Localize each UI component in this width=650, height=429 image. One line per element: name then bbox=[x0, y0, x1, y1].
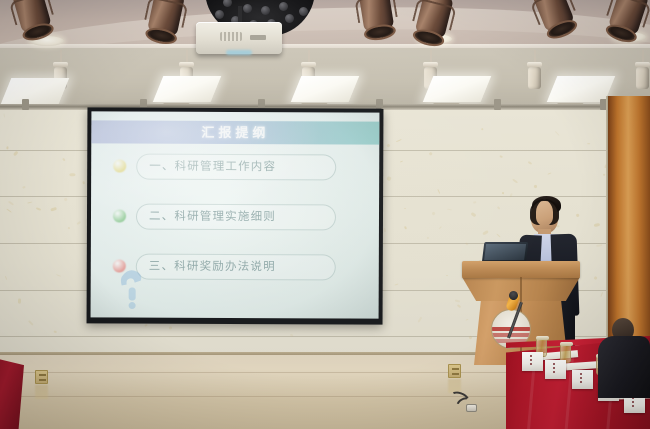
hanging-ceiling-lamp bbox=[528, 50, 542, 89]
wall-speckle bbox=[437, 188, 440, 194]
wall-power-outlet[interactable] bbox=[35, 370, 48, 384]
wall-speckle bbox=[35, 207, 40, 211]
wall-speckle bbox=[431, 212, 435, 216]
wall-speckle bbox=[51, 207, 57, 211]
wall-speckle bbox=[56, 274, 61, 277]
wall-speckle bbox=[400, 161, 403, 163]
wall-speckle bbox=[603, 174, 605, 177]
hanging-ceiling-lamp bbox=[636, 50, 650, 89]
slide-bullet-label: 一、科研管理工作内容 bbox=[149, 154, 276, 181]
wall-speckle bbox=[470, 212, 476, 217]
wall-speckle bbox=[447, 208, 452, 210]
wall-speckle bbox=[439, 226, 442, 229]
projection-screen: 汇报提纲 一、科研管理工作内容二、科研管理实施细则三、科研奖励办法说明 bbox=[87, 107, 384, 324]
lamp-wire bbox=[642, 50, 644, 62]
lamp-wire bbox=[430, 50, 432, 62]
lamp-body bbox=[528, 67, 541, 89]
wall-speckle bbox=[82, 181, 85, 185]
laptop-screen bbox=[484, 244, 526, 260]
fluorescent-panel-light bbox=[291, 76, 360, 102]
lamp-wire bbox=[60, 50, 62, 62]
wall-speckle bbox=[386, 144, 390, 148]
tea-glass-lid bbox=[560, 342, 573, 346]
conference-hall-photo: 汇报提纲 一、科研管理工作内容二、科研管理实施细则三、科研奖励办法说明 bbox=[0, 0, 650, 429]
wall-speckle bbox=[7, 146, 9, 149]
wall-speckle bbox=[4, 114, 6, 118]
lectern-top-surface bbox=[462, 261, 580, 278]
wall-speckle bbox=[53, 330, 57, 333]
slide-bullet-row: 二、科研管理实施细则 bbox=[91, 201, 379, 232]
wall-speckle bbox=[502, 192, 504, 194]
projector-vent-icon bbox=[220, 32, 242, 41]
outlet-slot bbox=[452, 373, 459, 375]
wall-speckle bbox=[13, 151, 19, 157]
wall-speckle bbox=[496, 234, 500, 238]
wall-speckle bbox=[455, 299, 460, 302]
wall-speckle bbox=[168, 326, 172, 330]
name-card bbox=[545, 360, 566, 379]
wall-speckle bbox=[404, 208, 406, 210]
wall-speckle bbox=[23, 186, 26, 189]
stage-spotlight bbox=[358, 0, 397, 42]
wall-speckle bbox=[5, 275, 8, 279]
seated-attendee bbox=[596, 318, 650, 408]
fluorescent-panel-light bbox=[423, 76, 492, 102]
wall-speckle bbox=[18, 299, 21, 305]
tea-glass-lid bbox=[536, 336, 549, 340]
name-card bbox=[572, 370, 593, 389]
wall-speckle bbox=[386, 176, 391, 181]
wall-speckle bbox=[144, 323, 148, 326]
lamp-wire bbox=[186, 50, 188, 62]
slide-title: 汇报提纲 bbox=[91, 120, 379, 144]
wall-speckle bbox=[528, 161, 533, 165]
slide-bullet-label: 三、科研奖励办法说明 bbox=[149, 254, 276, 281]
wall-speckle bbox=[482, 229, 489, 235]
wall-speckle bbox=[384, 228, 386, 232]
bullet-yellow-icon bbox=[113, 159, 126, 172]
attendee-torso bbox=[598, 336, 650, 398]
name-card-text bbox=[580, 373, 582, 385]
wall-speckle bbox=[29, 320, 34, 325]
lamp-body bbox=[636, 67, 649, 89]
wall-speckle bbox=[533, 184, 537, 188]
wall-speckle bbox=[394, 284, 399, 286]
wall-speckle bbox=[8, 200, 14, 205]
wall-speckle bbox=[62, 158, 65, 161]
wall-speckle bbox=[499, 155, 503, 158]
wall-speckle bbox=[594, 276, 598, 280]
wall-speckle bbox=[446, 275, 448, 276]
wall-speckle bbox=[457, 304, 461, 308]
wall-speckle bbox=[596, 245, 602, 248]
fluorescent-panel-light bbox=[153, 76, 222, 102]
wall-speckle bbox=[496, 207, 500, 211]
slide-bullet-label: 二、科研管理实施细则 bbox=[149, 204, 276, 231]
lamp-wire bbox=[308, 50, 310, 62]
wall-speckle bbox=[481, 128, 484, 131]
rail-bracket bbox=[22, 99, 29, 110]
ceiling-projector bbox=[196, 22, 282, 54]
wall-speckle bbox=[587, 143, 590, 144]
presenter-hair-sides bbox=[530, 199, 559, 225]
rail-bracket bbox=[494, 99, 501, 110]
cable-plug bbox=[466, 404, 477, 412]
lamp-wire bbox=[534, 50, 536, 62]
projector-label-plate bbox=[250, 35, 266, 40]
name-card-text bbox=[553, 363, 555, 375]
wall-speckle bbox=[396, 139, 402, 142]
wall-speckle bbox=[512, 178, 518, 183]
outlet-slot bbox=[39, 379, 46, 381]
outlet-slot bbox=[39, 374, 46, 376]
projector-lens-glow bbox=[226, 50, 252, 55]
projection-screen-surface: 汇报提纲 一、科研管理工作内容二、科研管理实施细则三、科研奖励办法说明 bbox=[91, 111, 380, 318]
name-card bbox=[522, 352, 543, 371]
slide-decorative-figure-icon bbox=[115, 265, 155, 311]
name-card-text bbox=[530, 355, 532, 367]
outlet-slot bbox=[452, 368, 459, 370]
wall-speckle bbox=[600, 292, 603, 297]
slide-bullet-row: 一、科研管理工作内容 bbox=[91, 151, 379, 182]
wall-speckle bbox=[77, 221, 81, 224]
wall-speckle bbox=[27, 201, 32, 203]
wall-speckle bbox=[417, 317, 422, 323]
wall-power-outlet[interactable] bbox=[448, 364, 461, 378]
wall-speckle bbox=[405, 226, 408, 230]
wall-speckle bbox=[554, 131, 559, 137]
wall-speckle bbox=[547, 172, 552, 175]
wall-speckle bbox=[594, 222, 600, 227]
wall-speckle bbox=[69, 173, 75, 176]
bullet-green-icon bbox=[113, 209, 126, 222]
wall-speckle bbox=[428, 151, 433, 156]
wall-speckle bbox=[474, 201, 477, 203]
fluorescent-panel-light bbox=[1, 78, 70, 104]
wall-speckle bbox=[427, 237, 430, 239]
wall-speckle bbox=[63, 198, 67, 202]
outlet-floor-reflection bbox=[35, 385, 48, 399]
wall-speckle bbox=[6, 208, 11, 213]
wall-speckle bbox=[68, 226, 71, 229]
